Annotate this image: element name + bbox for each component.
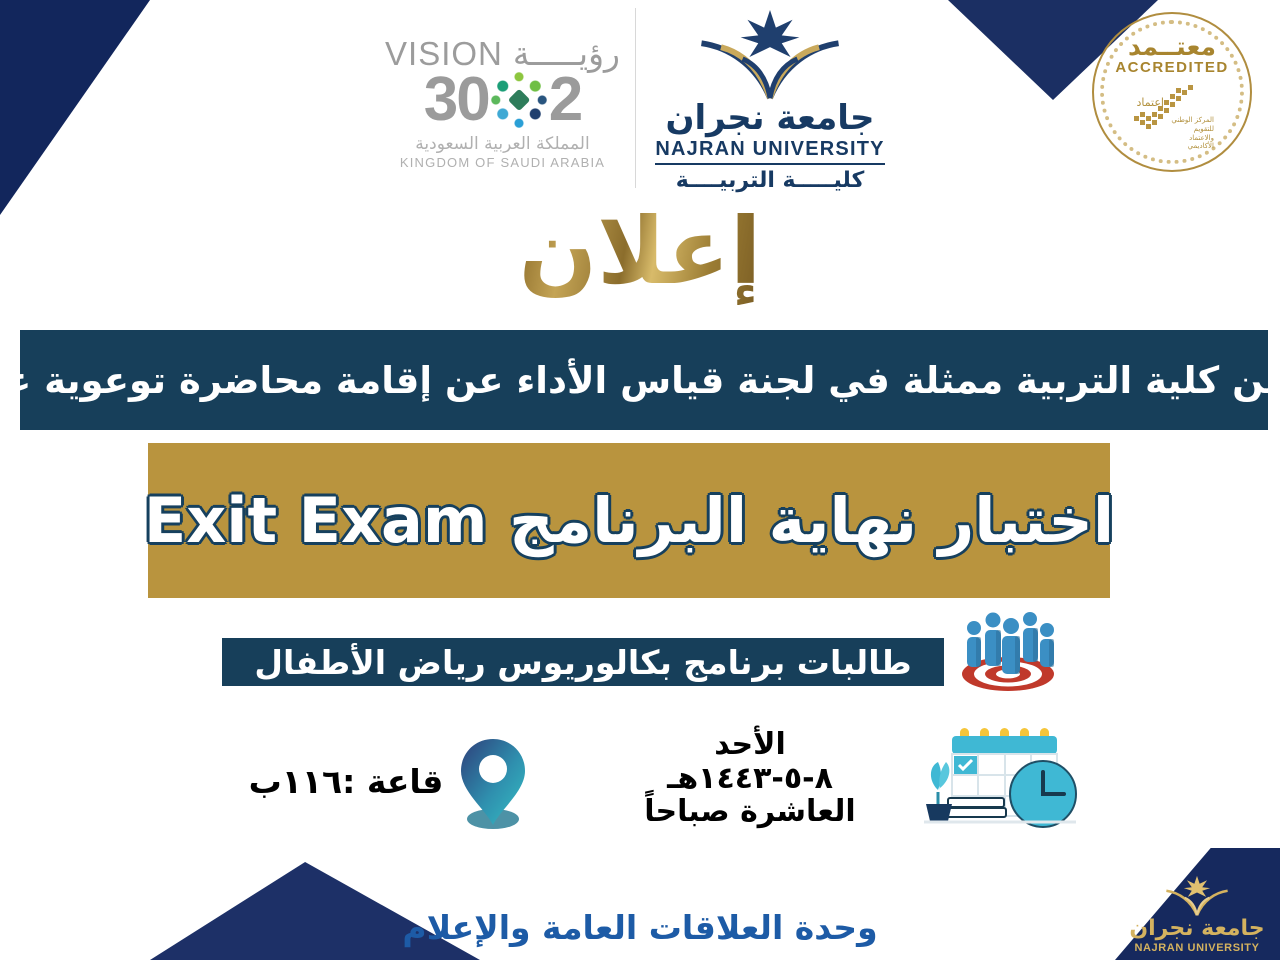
- saudi-emblem-icon: [490, 71, 548, 129]
- calendar-clock-icon: [918, 722, 1083, 840]
- vision-year-right: 30: [424, 71, 489, 130]
- najran-name-ar: جامعة نجران: [665, 98, 874, 138]
- footer-unit-label: وحدة العلاقات العامة والإعلام: [0, 908, 1280, 947]
- header-divider: [635, 8, 636, 188]
- datetime-date: ٨-٥-١٤٤٣هـ: [600, 762, 900, 796]
- datetime-time: العاشرة صباحاً: [600, 795, 900, 829]
- vision-kingdom-ar: المملكة العربية السعودية: [415, 134, 589, 154]
- announcement-poster: رؤيـــــة VISION 2 30 المملكة العربية ال…: [0, 0, 1280, 960]
- audience-badge: طالبات برنامج بكالوريوس رياض الأطفال: [222, 638, 944, 686]
- announcement-heading-text: إعلان: [519, 198, 762, 305]
- topic-box: اختبار نهاية البرنامج Exit Exam: [148, 443, 1110, 598]
- datetime-block: الأحد ٨-٥-١٤٤٣هـ العاشرة صباحاً: [600, 728, 900, 829]
- seal-title-en: ACCREDITED: [1115, 59, 1228, 76]
- seal-body-ar: اعتماد: [1136, 96, 1164, 109]
- topic-title: اختبار نهاية البرنامج Exit Exam: [144, 484, 1114, 557]
- vision-2030-logo: رؤيـــــة VISION 2 30 المملكة العربية ال…: [380, 22, 625, 182]
- najran-college-ar: كليـــــة التربيــــة: [676, 168, 864, 193]
- audience-label: طالبات برنامج بكالوريوس رياض الأطفال: [254, 643, 911, 682]
- poster-header: رؤيـــــة VISION 2 30 المملكة العربية ال…: [0, 0, 1280, 200]
- venue-label: قاعة :١١٦ب: [246, 762, 446, 801]
- announcement-heading: إعلان: [0, 206, 1280, 298]
- vision-kingdom-en: KINGDOM OF SAUDI ARABIA: [400, 155, 605, 170]
- announcement-banner: تعلن كلية التربية ممثلة في لجنة قياس الأ…: [20, 330, 1268, 430]
- seal-checkmark-icon: اعتماد المركز الوطني للتقويم والاعتماد ا…: [1128, 82, 1216, 134]
- najran-name-en: NAJRAN UNIVERSITY: [655, 138, 884, 165]
- najran-footer-emblem-icon: [1162, 874, 1232, 918]
- seal-title-ar: معتــمد: [1128, 32, 1216, 61]
- najran-university-logo: جامعة نجران NAJRAN UNIVERSITY كليـــــة …: [650, 8, 890, 193]
- people-on-target-icon: [952, 606, 1064, 694]
- announcement-banner-text: تعلن كلية التربية ممثلة في لجنة قياس الأ…: [0, 359, 1280, 402]
- footer-logo-name-ar: جامعة نجران: [1129, 918, 1264, 940]
- location-pin-icon: [452, 733, 534, 833]
- accreditation-seal: معتــمد ACCREDITED اعت: [1092, 12, 1252, 172]
- najran-emblem-icon: [690, 8, 850, 102]
- datetime-day: الأحد: [600, 728, 900, 762]
- vision-year-left: 2: [549, 71, 581, 130]
- najran-footer-logo: جامعة نجران NAJRAN UNIVERSITY: [1122, 854, 1272, 954]
- seal-center-ar: المركز الوطني للتقويم والاعتماد الأكاديم…: [1168, 116, 1214, 151]
- footer-logo-name-en: NAJRAN UNIVERSITY: [1134, 942, 1259, 954]
